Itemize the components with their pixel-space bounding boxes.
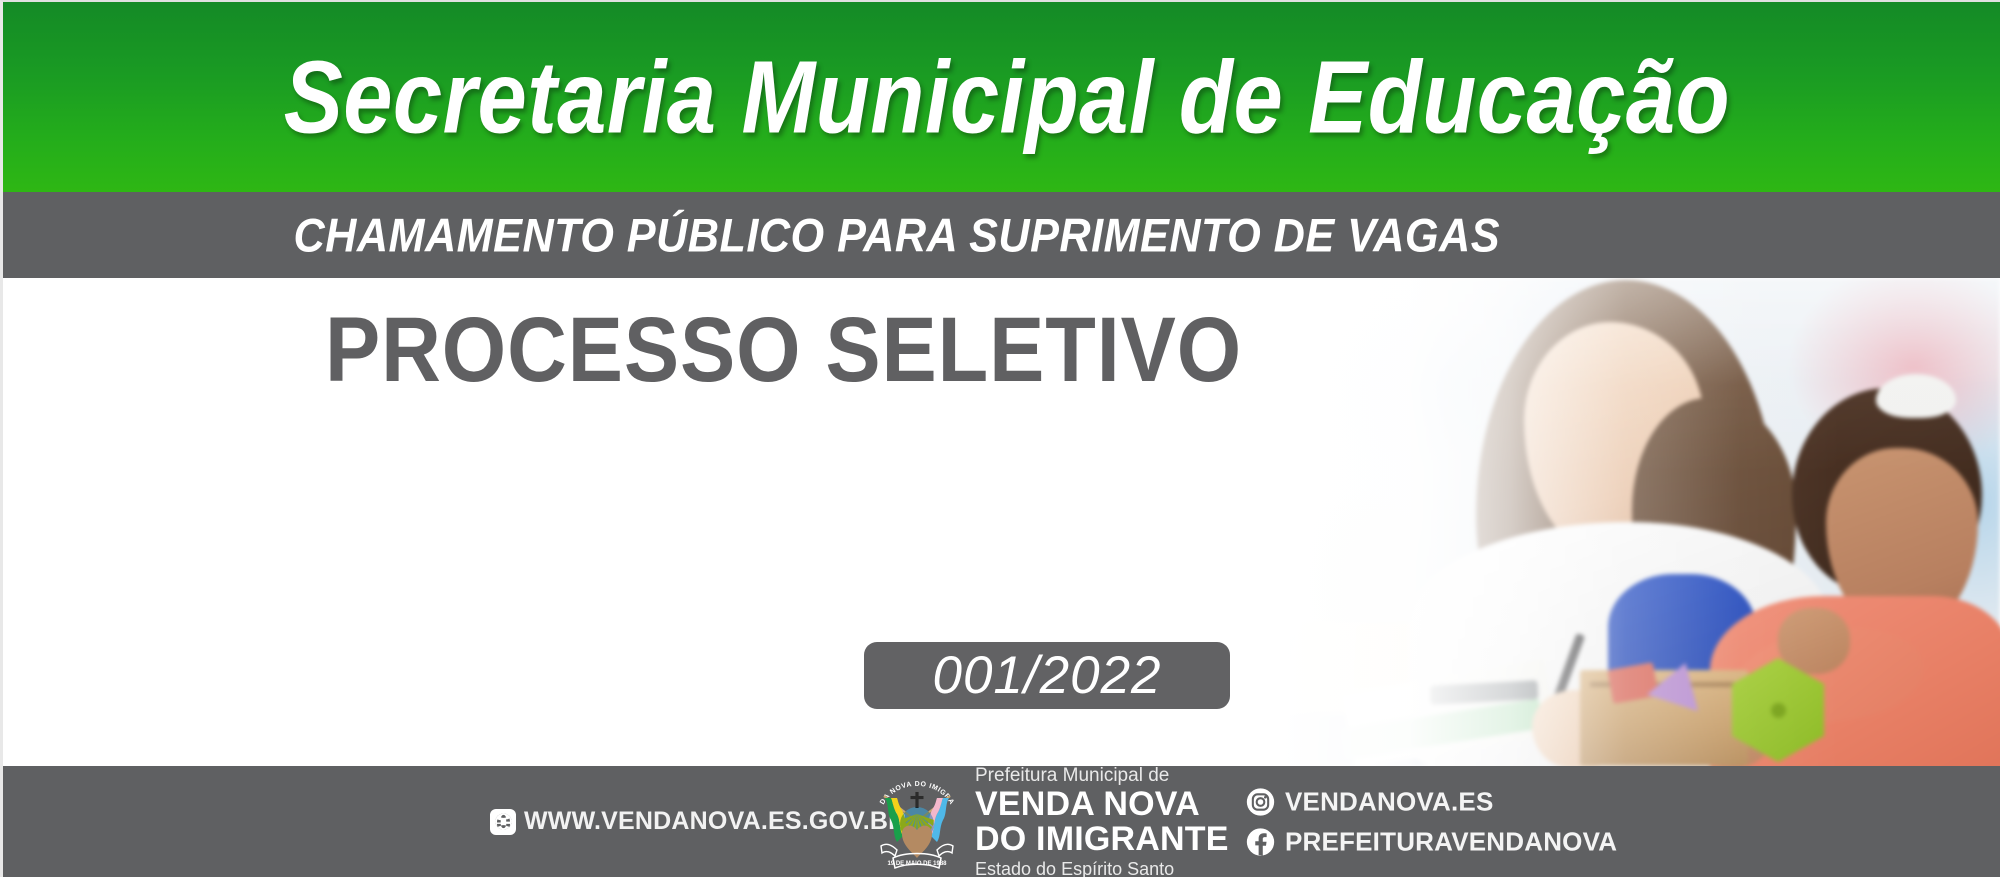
footer-website-link[interactable]: WWW.VENDANOVA.ES.GOV.BR: [490, 809, 906, 835]
city-brand-text: Prefeitura Municipal de VENDA NOVA DO IM…: [975, 765, 1229, 877]
page-title-text: PROCESSO SELETIVO: [324, 304, 1241, 396]
page-title: PROCESSO SELETIVO: [3, 304, 1563, 396]
coat-of-arms-icon: VENDA NOVA DO IMIGRANTE: [871, 770, 963, 874]
footer-bar: WWW.VENDANOVA.ES.GOV.BR VENDA NOVA DO IM…: [3, 766, 2000, 877]
facebook-link[interactable]: PREFEITURAVENDANOVA: [1246, 827, 1617, 856]
public-call-subtitle: CHAMAMENTO PÚBLICO PARA SUPRIMENTO DE VA…: [3, 212, 2000, 259]
green-header-band: Secretaria Municipal de Educação: [3, 2, 2000, 192]
facebook-icon: [1246, 827, 1275, 856]
city-brand: VENDA NOVA DO IMIGRANTE: [871, 765, 1229, 877]
brand-city-name-line2: DO IMIGRANTE: [975, 822, 1229, 857]
public-call-subtitle-text: CHAMAMENTO PÚBLICO PARA SUPRIMENTO DE VA…: [293, 212, 1500, 259]
secretariat-title-text: Secretaria Municipal de Educação: [283, 46, 1729, 149]
process-number-badge: 001/2022: [864, 642, 1230, 709]
footer-website-label: WWW.VENDANOVA.ES.GOV.BR: [524, 809, 906, 834]
svg-text:19 DE MAIO DE 1988: 19 DE MAIO DE 1988: [887, 861, 947, 867]
selection-process-banner: Secretaria Municipal de Educação CHAMAME…: [0, 0, 2000, 877]
facebook-handle: PREFEITURAVENDANOVA: [1285, 829, 1617, 855]
secretariat-title: Secretaria Municipal de Educação: [3, 46, 2000, 149]
subtitle-band: CHAMAMENTO PÚBLICO PARA SUPRIMENTO DE VA…: [3, 192, 2000, 278]
brand-city-name-line1: VENDA NOVA: [975, 786, 1229, 821]
instagram-icon: [1246, 787, 1275, 816]
instagram-handle: VENDANOVA.ES: [1285, 789, 1494, 815]
globe-icon: [490, 809, 516, 835]
announcement-text-block: PROCESSO SELETIVO 001/2022: [3, 278, 1563, 766]
brand-prefix-label: Prefeitura Municipal de: [975, 765, 1229, 784]
brand-state-label: Estado do Espírito Santo: [975, 860, 1229, 877]
main-content-area: PROCESSO SELETIVO 001/2022: [3, 278, 2000, 766]
process-number-text: 001/2022: [932, 649, 1161, 702]
instagram-link[interactable]: VENDANOVA.ES: [1246, 787, 1617, 816]
footer-social-links: VENDANOVA.ES PREFEITURAVENDANOVA: [1246, 787, 1617, 856]
